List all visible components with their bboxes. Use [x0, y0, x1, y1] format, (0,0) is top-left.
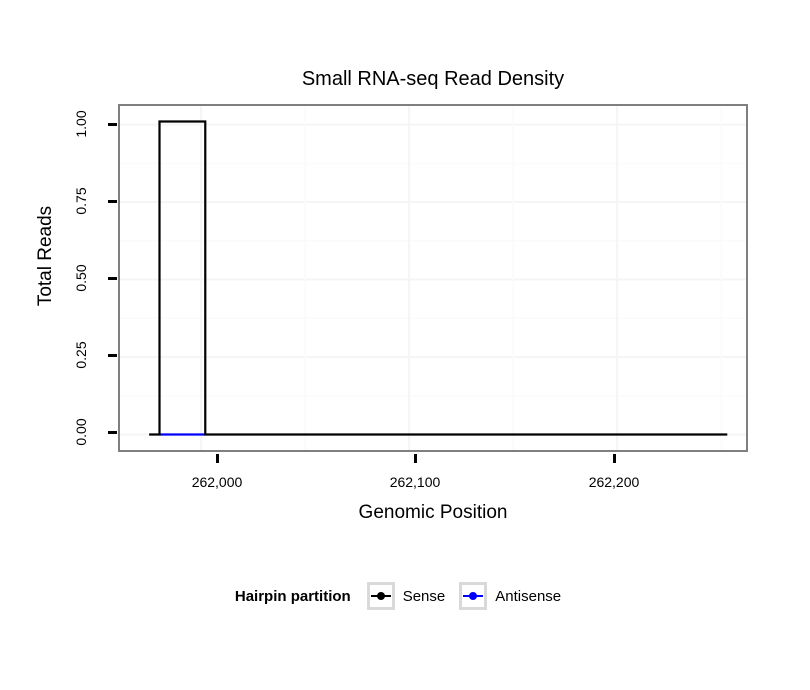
y-tick-mark	[108, 123, 117, 126]
y-tick-label: 0.50	[73, 255, 89, 301]
x-tick-mark	[216, 454, 219, 463]
legend-label-sense: Sense	[403, 588, 446, 605]
legend-label-antisense: Antisense	[495, 588, 561, 605]
legend-item-sense[interactable]: Sense	[367, 582, 446, 610]
legend-key-sense-icon	[367, 582, 395, 610]
y-tick-label: 0.25	[73, 332, 89, 378]
x-axis-label: Genomic Position	[118, 502, 748, 524]
legend-title: Hairpin partition	[235, 588, 351, 605]
legend-dot-antisense	[469, 592, 477, 600]
y-tick-label: 0.00	[73, 409, 89, 455]
chart-title: Small RNA-seq Read Density	[118, 68, 748, 91]
x-tick-mark	[414, 454, 417, 463]
legend-key-antisense-icon	[459, 582, 487, 610]
chart-figure: Small RNA-seq Read Density Total Reads 1…	[0, 0, 810, 690]
y-tick-label: 0.75	[73, 178, 89, 224]
y-tick-label: 1.00	[73, 101, 89, 147]
plot-panel	[118, 104, 748, 452]
y-tick-mark	[108, 277, 117, 280]
x-tick-mark	[613, 454, 616, 463]
x-tick-label: 262,100	[355, 474, 475, 490]
legend-dot-sense	[377, 592, 385, 600]
y-tick-mark	[108, 431, 117, 434]
y-axis-label: Total Reads	[35, 156, 57, 356]
chart-legend: Hairpin partition Sense Antisense	[0, 582, 810, 610]
y-tick-mark	[108, 354, 117, 357]
series-line-sense	[149, 122, 727, 435]
x-tick-label: 262,000	[157, 474, 277, 490]
y-tick-mark	[108, 200, 117, 203]
legend-item-antisense[interactable]: Antisense	[459, 582, 561, 610]
plot-canvas	[120, 106, 746, 450]
x-tick-label: 262,200	[554, 474, 674, 490]
